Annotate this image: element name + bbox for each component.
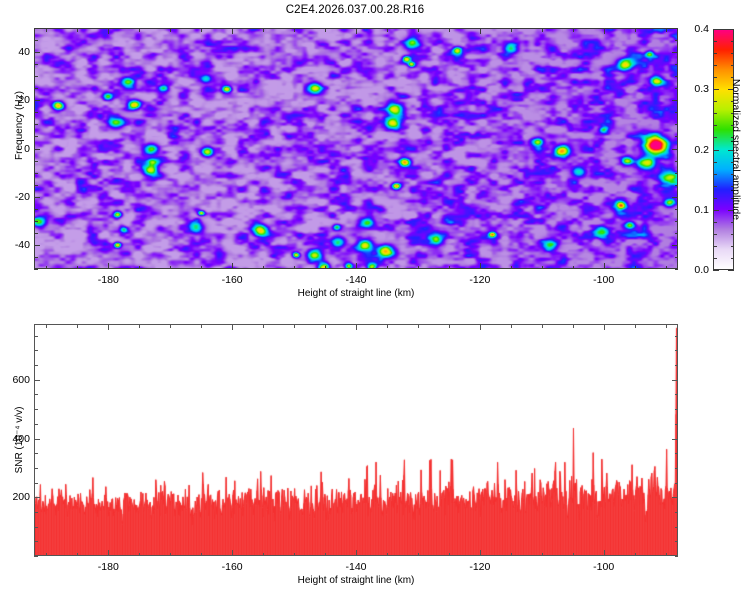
- tick-mark-y: [675, 453, 679, 454]
- tick-mark-x: [170, 266, 171, 270]
- tick-mark-y: [675, 161, 679, 162]
- tick-mark-x: [201, 324, 202, 328]
- colorbar-tick-mark: [728, 270, 734, 271]
- tick-mark-x: [387, 324, 388, 328]
- tick-mark-y: [675, 350, 679, 351]
- tick-mark-y: [675, 336, 679, 337]
- tick-mark-x: [139, 266, 140, 270]
- tick-mark-y: [34, 100, 40, 101]
- tick-mark-y: [675, 28, 679, 29]
- tick-label-x: -160: [212, 274, 252, 286]
- tick-mark-x: [232, 324, 233, 330]
- tick-mark-y: [34, 28, 38, 29]
- tick-mark-y: [34, 209, 38, 210]
- tick-mark-x: [46, 266, 47, 270]
- tick-mark-x: [573, 28, 574, 32]
- tick-mark-x: [666, 553, 667, 557]
- colorbar-tick-mark: [713, 210, 719, 211]
- tick-mark-y: [34, 136, 38, 137]
- tick-mark-x: [139, 553, 140, 557]
- tick-mark-y: [672, 149, 678, 150]
- colorbar-tick-mark: [713, 101, 717, 102]
- colorbar-tick-mark: [713, 162, 717, 163]
- spectrogram-plot-area: [34, 28, 678, 269]
- tick-mark-x: [573, 553, 574, 557]
- tick-mark-x: [604, 28, 605, 34]
- tick-mark-y: [34, 221, 38, 222]
- tick-mark-x: [294, 28, 295, 32]
- colorbar-tick-mark: [713, 89, 719, 90]
- tick-mark-x: [573, 266, 574, 270]
- tick-mark-x: [635, 553, 636, 557]
- tick-mark-y: [675, 394, 679, 395]
- tick-mark-y: [34, 197, 40, 198]
- tick-mark-x: [325, 266, 326, 270]
- tick-mark-y: [34, 468, 38, 469]
- tick-mark-y: [675, 64, 679, 65]
- tick-mark-x: [511, 266, 512, 270]
- tick-mark-y: [672, 439, 678, 440]
- tick-mark-y: [34, 439, 40, 440]
- tick-mark-y: [675, 556, 679, 557]
- tick-mark-x: [170, 324, 171, 328]
- tick-mark-y: [34, 424, 38, 425]
- colorbar-tick-mark: [713, 29, 719, 30]
- colorbar-tick-mark: [713, 186, 717, 187]
- colorbar-tick-mark: [713, 222, 717, 223]
- tick-mark-x: [542, 28, 543, 32]
- tick-label-x: -180: [88, 274, 128, 286]
- tick-mark-x: [418, 324, 419, 328]
- colorbar-tick-mark: [713, 65, 717, 66]
- tick-mark-x: [108, 28, 109, 34]
- tick-mark-x: [387, 553, 388, 557]
- tick-mark-y: [34, 52, 40, 53]
- tick-mark-x: [108, 263, 109, 269]
- tick-mark-y: [675, 88, 679, 89]
- tick-mark-y: [34, 453, 38, 454]
- tick-mark-x: [263, 324, 264, 328]
- tick-mark-x: [232, 550, 233, 556]
- tick-mark-y: [34, 483, 38, 484]
- tick-mark-x: [356, 550, 357, 556]
- tick-label-x: -100: [584, 561, 624, 573]
- colorbar-tick-label: 0.0: [683, 264, 709, 276]
- tick-mark-y: [34, 409, 38, 410]
- tick-mark-y: [675, 76, 679, 77]
- tick-mark-y: [34, 257, 38, 258]
- tick-mark-y: [34, 185, 38, 186]
- tick-mark-x: [418, 28, 419, 32]
- tick-mark-x: [325, 553, 326, 557]
- tick-mark-x: [263, 28, 264, 32]
- tick-mark-x: [356, 263, 357, 269]
- tick-mark-x: [542, 324, 543, 328]
- tick-mark-x: [604, 550, 605, 556]
- tick-mark-y: [34, 245, 40, 246]
- tick-mark-x: [139, 324, 140, 328]
- tick-label-x: -100: [584, 274, 624, 286]
- tick-mark-x: [480, 263, 481, 269]
- tick-mark-y: [675, 209, 679, 210]
- figure-title: C2E4.2026.037.00.28.R16: [0, 4, 710, 16]
- tick-mark-y: [34, 512, 38, 513]
- tick-mark-y: [672, 497, 678, 498]
- tick-mark-x: [542, 266, 543, 270]
- colorbar-tick-label: 0.3: [683, 83, 709, 95]
- colorbar-tick-mark: [713, 174, 717, 175]
- tick-mark-y: [34, 541, 38, 542]
- tick-mark-x: [356, 324, 357, 330]
- colorbar-tick-mark: [713, 258, 717, 259]
- tick-mark-y: [675, 40, 679, 41]
- tick-mark-y: [34, 161, 38, 162]
- tick-mark-y: [34, 124, 38, 125]
- snr-trace: [35, 325, 677, 555]
- colorbar-tick-mark: [713, 53, 717, 54]
- tick-mark-y: [675, 269, 679, 270]
- tick-mark-x: [108, 550, 109, 556]
- tick-mark-y: [675, 136, 679, 137]
- tick-mark-y: [675, 233, 679, 234]
- tick-mark-y: [34, 88, 38, 89]
- tick-label-x: -120: [460, 561, 500, 573]
- tick-mark-x: [77, 553, 78, 557]
- colorbar-tick-mark: [713, 234, 717, 235]
- tick-label-x: -180: [88, 561, 128, 573]
- tick-mark-x: [449, 553, 450, 557]
- tick-mark-y: [34, 394, 38, 395]
- tick-mark-y: [34, 336, 38, 337]
- tick-mark-x: [294, 266, 295, 270]
- tick-mark-x: [325, 324, 326, 328]
- tick-mark-y: [675, 173, 679, 174]
- colorbar-tick-mark: [713, 41, 717, 42]
- tick-mark-y: [34, 527, 38, 528]
- tick-mark-x: [480, 550, 481, 556]
- colorbar-tick-label: 0.1: [683, 204, 709, 216]
- tick-mark-x: [418, 266, 419, 270]
- tick-mark-y: [34, 556, 38, 557]
- tick-mark-y: [672, 245, 678, 246]
- tick-mark-y: [672, 100, 678, 101]
- snr-y-axis-label: SNR (10⁻⁴ v/v): [14, 324, 25, 556]
- tick-mark-y: [34, 233, 38, 234]
- tick-mark-x: [449, 324, 450, 328]
- tick-mark-y: [675, 221, 679, 222]
- tick-mark-x: [46, 28, 47, 32]
- tick-mark-x: [666, 324, 667, 328]
- colorbar-tick-mark: [713, 198, 717, 199]
- tick-mark-y: [675, 541, 679, 542]
- snr-x-axis-label: Height of straight line (km): [34, 575, 678, 586]
- tick-mark-y: [34, 173, 38, 174]
- tick-mark-y: [675, 409, 679, 410]
- colorbar-tick-mark: [713, 113, 717, 114]
- tick-mark-y: [672, 52, 678, 53]
- colorbar-tick-mark: [713, 137, 717, 138]
- tick-mark-y: [675, 112, 679, 113]
- tick-mark-y: [34, 149, 40, 150]
- tick-mark-x: [635, 28, 636, 32]
- figure-canvas: C2E4.2026.037.00.28.R16 -180-160-140-120…: [0, 0, 750, 600]
- tick-mark-y: [34, 269, 38, 270]
- colorbar-tick-label: 0.4: [683, 23, 709, 35]
- tick-mark-x: [46, 324, 47, 328]
- tick-mark-x: [480, 28, 481, 34]
- tick-mark-x: [418, 553, 419, 557]
- tick-mark-x: [511, 28, 512, 32]
- tick-mark-x: [604, 324, 605, 330]
- tick-mark-x: [263, 266, 264, 270]
- tick-mark-x: [77, 324, 78, 328]
- colorbar-tick-label: 0.2: [683, 144, 709, 156]
- tick-mark-x: [108, 324, 109, 330]
- tick-mark-x: [666, 28, 667, 32]
- tick-mark-x: [263, 553, 264, 557]
- tick-mark-x: [604, 263, 605, 269]
- tick-mark-x: [294, 324, 295, 328]
- spectrogram-y-axis-label: Frequency (Hz): [14, 5, 25, 246]
- tick-mark-y: [34, 380, 40, 381]
- tick-mark-y: [675, 185, 679, 186]
- tick-mark-y: [675, 483, 679, 484]
- tick-mark-y: [675, 124, 679, 125]
- colorbar-tick-mark: [713, 150, 719, 151]
- colorbar-tick-mark: [713, 77, 717, 78]
- colorbar-tick-mark: [713, 270, 719, 271]
- spectrogram-image: [35, 29, 677, 268]
- colorbar-tick-mark: [713, 125, 717, 126]
- tick-mark-x: [46, 553, 47, 557]
- tick-mark-y: [675, 424, 679, 425]
- tick-label-x: -140: [336, 274, 376, 286]
- tick-label-x: -140: [336, 561, 376, 573]
- tick-mark-y: [34, 365, 38, 366]
- tick-mark-y: [675, 257, 679, 258]
- tick-mark-x: [387, 28, 388, 32]
- tick-mark-y: [34, 350, 38, 351]
- spectrogram-x-axis-label: Height of straight line (km): [34, 288, 678, 299]
- tick-mark-x: [201, 553, 202, 557]
- tick-mark-x: [449, 28, 450, 32]
- tick-mark-x: [356, 28, 357, 34]
- tick-mark-x: [232, 28, 233, 34]
- tick-label-x: -120: [460, 274, 500, 286]
- tick-mark-y: [672, 380, 678, 381]
- tick-mark-x: [294, 553, 295, 557]
- tick-mark-y: [675, 365, 679, 366]
- tick-mark-y: [675, 512, 679, 513]
- tick-mark-x: [573, 324, 574, 328]
- colorbar-tick-mark: [713, 246, 717, 247]
- tick-mark-y: [675, 468, 679, 469]
- tick-mark-x: [77, 266, 78, 270]
- tick-mark-y: [34, 64, 38, 65]
- tick-mark-x: [77, 28, 78, 32]
- tick-mark-x: [449, 266, 450, 270]
- tick-mark-x: [170, 28, 171, 32]
- snr-plot-area: [34, 324, 678, 556]
- tick-mark-x: [139, 28, 140, 32]
- tick-mark-x: [542, 553, 543, 557]
- tick-mark-x: [325, 28, 326, 32]
- tick-mark-x: [511, 553, 512, 557]
- tick-mark-y: [34, 40, 38, 41]
- tick-mark-y: [34, 112, 38, 113]
- tick-mark-x: [635, 324, 636, 328]
- colorbar-axis-label: Normalized spectral amplitude: [726, 29, 746, 270]
- tick-mark-x: [201, 266, 202, 270]
- tick-mark-y: [34, 76, 38, 77]
- tick-label-x: -160: [212, 561, 252, 573]
- tick-mark-x: [232, 263, 233, 269]
- tick-mark-y: [672, 197, 678, 198]
- tick-mark-x: [201, 28, 202, 32]
- tick-mark-x: [480, 324, 481, 330]
- tick-mark-x: [387, 266, 388, 270]
- tick-mark-x: [170, 553, 171, 557]
- tick-mark-y: [34, 497, 40, 498]
- tick-mark-x: [635, 266, 636, 270]
- tick-mark-x: [511, 324, 512, 328]
- tick-mark-x: [666, 266, 667, 270]
- tick-mark-y: [675, 527, 679, 528]
